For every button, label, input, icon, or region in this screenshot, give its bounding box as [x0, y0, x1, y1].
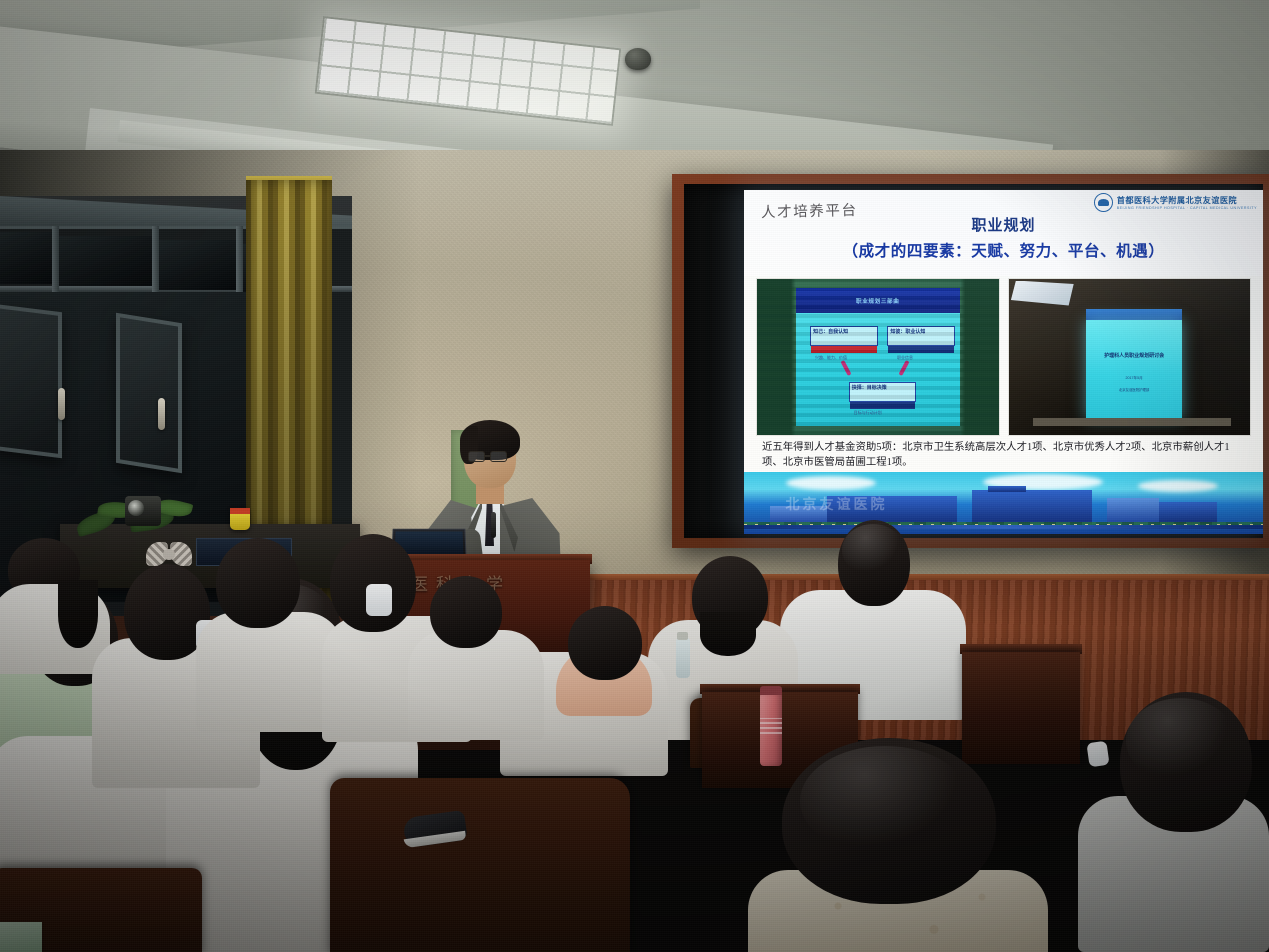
seminar-room-desk [1033, 418, 1231, 426]
window-pane [159, 240, 236, 290]
seminar-room-photo: 护理科人员职业规划研讨会 2017年5月 北京友谊医院护理部 [1008, 278, 1252, 436]
eyeglasses-bridge [484, 455, 491, 457]
ceiling-light-reflection [1011, 281, 1074, 306]
bow-knot [163, 549, 175, 560]
eyeglasses-icon [490, 451, 507, 462]
slide-caption: 近五年得到人才基金资助5项：北京市卫生系统高层次人才1项、北京市优秀人才2项、北… [762, 440, 1246, 470]
building-main [972, 490, 1092, 524]
building-roofbox [988, 486, 1026, 492]
slide-header: 人才培养平台 首都医科大学附属北京友谊医院 BEIJING FRIENDSHIP… [744, 190, 1263, 276]
casement-window-sash[interactable] [0, 304, 62, 459]
brand-text: 首都医科大学附属北京友谊医院 BEIJING FRIENDSHIP HOSPIT… [1117, 196, 1257, 210]
lecture-hall-photo: 人才培养平台 首都医科大学附属北京友谊医院 BEIJING FRIENDSHIP… [0, 0, 1269, 952]
slide-title: 职业规划 [744, 214, 1263, 235]
bottle-cap [677, 632, 688, 640]
window-handle[interactable] [58, 388, 65, 420]
brand-name-cn: 首都医科大学附属北京友谊医院 [1117, 196, 1257, 205]
ponytail [58, 580, 98, 648]
seminar-screen-title: 护理科人员职业规划研讨会 [1091, 352, 1178, 359]
cup-rim [230, 508, 250, 514]
seminar-screen-org: 北京友谊医院护理部 [1091, 387, 1178, 392]
thermos-cap [760, 686, 782, 695]
thermos-label [760, 718, 782, 734]
hair-highlight [1126, 698, 1236, 784]
ponytail [700, 612, 756, 656]
inner-slide-photo: 职业规划三部曲 知己：自我认知 知彼：职业认知 抉择：目标决策 兴趣、能力、价值… [756, 278, 1000, 436]
eyeglasses-arm [1086, 741, 1109, 768]
dome-sensor-icon [625, 48, 651, 70]
cloud [1138, 480, 1218, 492]
window-pane [59, 236, 152, 286]
casement-window-sash[interactable] [116, 313, 182, 473]
desk [962, 652, 1080, 764]
eyeglasses-icon [468, 451, 485, 462]
inner-photo-shadow [757, 279, 999, 435]
university-seal-icon [1094, 193, 1113, 212]
slide-photo-row: 职业规划三部曲 知己：自我认知 知彼：职业认知 抉择：目标决策 兴趣、能力、价值… [756, 278, 1251, 436]
head [430, 576, 502, 648]
footer-watermark: 北京友谊医院 [786, 494, 888, 514]
chair-back [330, 778, 630, 952]
hair-highlight [800, 746, 970, 856]
bow-hair-accessory [146, 542, 192, 566]
head [216, 538, 300, 628]
face-mask [366, 584, 392, 616]
window-pane [0, 232, 52, 284]
hair-highlight [842, 524, 904, 576]
head [568, 606, 642, 680]
cloud [786, 476, 876, 490]
seminar-screen [1086, 320, 1183, 420]
window-handle[interactable] [158, 398, 165, 430]
pink-thermos [760, 692, 782, 766]
seminar-screen-date: 2017年5月 [1091, 376, 1178, 381]
slide-subtitle: （成才的四要素：天赋、努力、平台、机遇） [744, 239, 1263, 261]
projector-lens-icon [128, 500, 144, 516]
presentation-slide: 人才培养平台 首都医科大学附属北京友谊医院 BEIJING FRIENDSHIP… [744, 190, 1263, 534]
slide-brand: 首都医科大学附属北京友谊医院 BEIJING FRIENDSHIP HOSPIT… [1094, 193, 1257, 212]
audience [0, 520, 1269, 952]
green-handout [0, 922, 42, 952]
water-bottle [676, 638, 690, 678]
head [330, 534, 416, 632]
brand-name-en: BEIJING FRIENDSHIP HOSPITAL · CAPITAL ME… [1117, 206, 1257, 210]
